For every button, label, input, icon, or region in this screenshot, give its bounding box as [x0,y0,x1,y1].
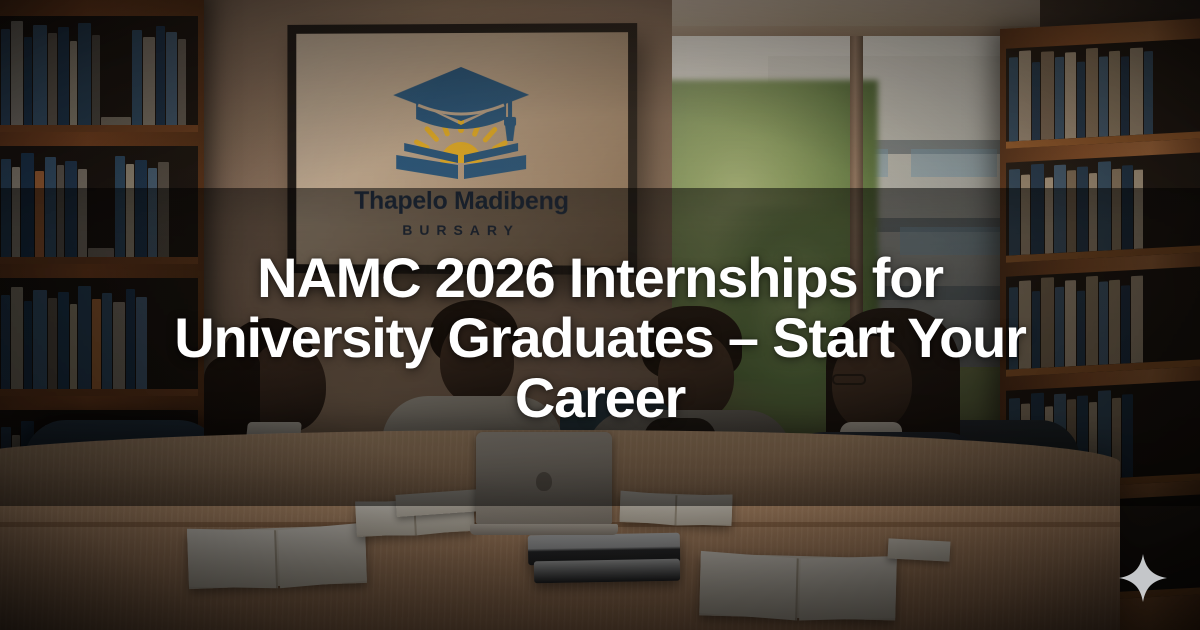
paper-sheet [888,538,951,561]
laptop-logo [536,472,552,491]
sparkle-star-watermark [1119,554,1167,602]
framed-poster: Thapelo Madibeng BURSARY [287,23,637,275]
book-stack [534,559,680,584]
window-header [672,26,1040,36]
shelf-row [0,16,198,132]
brand-subtitle: BURSARY [402,222,520,238]
open-notebook [620,492,733,526]
shelf-row [1006,152,1200,262]
open-book [187,525,367,589]
shelf-row [1006,38,1200,148]
window-blind [672,0,1040,26]
hero-banner: Thapelo Madibeng BURSARY [0,0,1200,630]
page-title: NAMC 2026 Internships for University Gra… [0,248,1200,428]
brand-name: Thapelo Madibeng [354,187,569,216]
open-book [699,553,897,620]
graduation-cap-sunburst-book-icon [386,59,536,179]
laptop-base [470,524,618,535]
poster-face: Thapelo Madibeng BURSARY [296,32,628,266]
building-window [911,149,997,177]
laptop-screen [476,432,612,524]
shelf-row [0,146,198,264]
laptop-icon [470,432,618,542]
